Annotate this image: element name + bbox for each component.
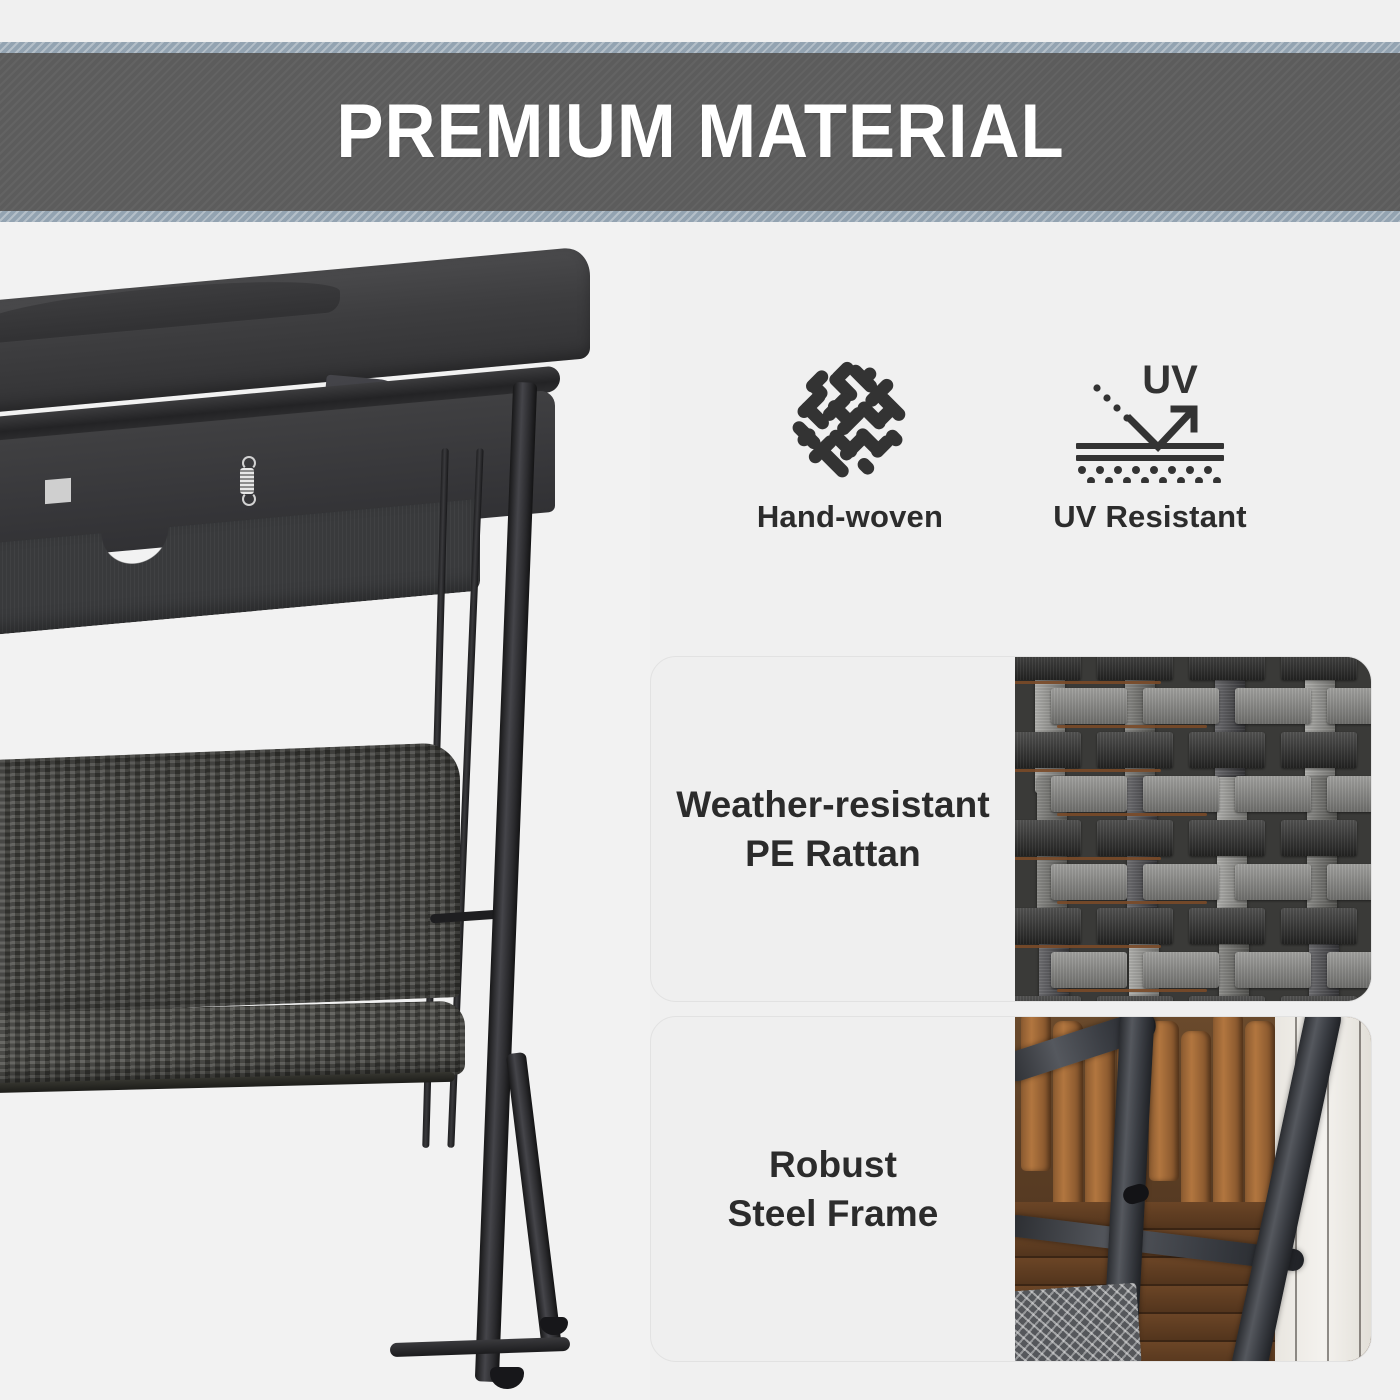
rattan-horizontal-strand [1235, 776, 1311, 812]
rattan-copper-accent [1015, 945, 1161, 948]
product-photo [0, 222, 650, 1400]
rattan-weave-row [1015, 905, 1371, 947]
rattan-horizontal-strand [1097, 732, 1173, 768]
rattan-copper-accent [1015, 769, 1161, 772]
spring-hook-bottom [242, 492, 256, 506]
rattan-horizontal-strand [1189, 820, 1265, 856]
feature-icon-hand-woven: Hand-woven [700, 355, 1000, 535]
canopy-care-label [45, 478, 71, 504]
feature-icon-label: UV Resistant [1053, 499, 1247, 535]
rattan-horizontal-strand [1051, 688, 1127, 724]
rattan-horizontal-strand [1015, 732, 1081, 768]
rattan-horizontal-strand [1015, 820, 1081, 856]
rattan-horizontal-strand [1327, 688, 1371, 724]
spring-hanger [238, 454, 256, 508]
uv-resistant-icon: UV [1066, 355, 1234, 485]
rattan-horizontal-strand [1281, 657, 1357, 680]
rattan-horizontal-strand [1015, 996, 1081, 1001]
wood-log [1181, 1031, 1211, 1217]
rattan-weave-row [1015, 993, 1371, 1001]
rattan-horizontal-strand [1015, 657, 1081, 680]
rattan-copper-accent [1057, 901, 1207, 904]
rattan-weave-closeup [1015, 657, 1371, 1001]
rattan-weave-row [1015, 949, 1371, 991]
leg-foot-back [540, 1317, 568, 1335]
rattan-weave-row [1015, 861, 1371, 903]
svg-text:UV: UV [1142, 358, 1198, 402]
rattan-weave-row [1015, 773, 1371, 815]
rattan-horizontal-strand [1097, 820, 1173, 856]
rattan-copper-accent [1015, 857, 1161, 860]
rattan-horizontal-strand [1281, 996, 1357, 1001]
banner-stripe-bottom [0, 211, 1400, 222]
rattan-horizontal-strand [1051, 864, 1127, 900]
rattan-horizontal-strand [1015, 908, 1081, 944]
rattan-horizontal-strand [1235, 864, 1311, 900]
leg-foot-front [490, 1367, 524, 1389]
card-title-line-2: PE Rattan [745, 833, 921, 874]
card-text-block: Weather-resistant PE Rattan [651, 657, 1015, 1001]
feature-icon-row: Hand-woven UV [700, 355, 1400, 535]
feature-icon-uv-resistant: UV [1000, 355, 1300, 535]
rattan-horizontal-strand [1051, 776, 1127, 812]
wood-log [1213, 1017, 1243, 1223]
steel-leg-back [506, 1052, 562, 1352]
rattan-horizontal-strand [1327, 864, 1371, 900]
rattan-horizontal-strand [1143, 864, 1219, 900]
spring-coil [240, 468, 254, 494]
card-title: Robust Steel Frame [728, 1140, 939, 1238]
woven-weave-icon [787, 355, 913, 485]
rattan-copper-accent [1057, 813, 1207, 816]
card-photo-steel-frame [1015, 1017, 1371, 1361]
rattan-horizontal-strand [1327, 776, 1371, 812]
rattan-weave-row [1015, 729, 1371, 771]
card-title-line-1: Robust [769, 1144, 897, 1185]
mesh-seat-corner [1015, 1283, 1142, 1361]
banner-stripe-top [0, 42, 1400, 53]
rattan-weave-row [1015, 657, 1371, 683]
rattan-horizontal-strand [1327, 952, 1371, 988]
rattan-horizontal-strand [1281, 820, 1357, 856]
rattan-horizontal-strand [1143, 776, 1219, 812]
rattan-horizontal-strand [1051, 952, 1127, 988]
card-title: Weather-resistant PE Rattan [676, 780, 990, 878]
rattan-weave-row [1015, 685, 1371, 727]
rattan-horizontal-strand [1281, 732, 1357, 768]
rattan-copper-accent [1057, 989, 1207, 992]
rattan-horizontal-strand [1097, 996, 1173, 1001]
header-banner: PREMIUM MATERIAL [0, 42, 1400, 222]
card-title-line-2: Steel Frame [728, 1193, 939, 1234]
rattan-horizontal-strand [1235, 688, 1311, 724]
rattan-horizontal-strand [1281, 908, 1357, 944]
card-title-line-1: Weather-resistant [676, 784, 990, 825]
rattan-copper-accent [1015, 681, 1161, 684]
wood-log [1149, 1021, 1179, 1181]
rattan-horizontal-strand [1097, 657, 1173, 680]
rattan-horizontal-strand [1189, 657, 1265, 680]
feature-card-steel-frame: Robust Steel Frame [650, 1016, 1372, 1362]
wall-line [1359, 1017, 1361, 1361]
rattan-weave-row [1015, 817, 1371, 859]
rattan-horizontal-strand [1189, 996, 1265, 1001]
bench-backrest-rattan [0, 742, 460, 1017]
rattan-horizontal-strand [1143, 688, 1219, 724]
card-text-block: Robust Steel Frame [651, 1017, 1015, 1361]
steel-frame-closeup [1015, 1017, 1371, 1361]
rattan-horizontal-strand [1189, 732, 1265, 768]
rattan-copper-accent [1057, 725, 1207, 728]
rattan-horizontal-strand [1143, 952, 1219, 988]
feature-icon-label: Hand-woven [757, 499, 943, 535]
rattan-horizontal-strand [1189, 908, 1265, 944]
card-photo-rattan-weave [1015, 657, 1371, 1001]
page-title: PREMIUM MATERIAL [336, 94, 1064, 170]
rattan-horizontal-strand [1235, 952, 1311, 988]
rattan-horizontal-strand [1097, 908, 1173, 944]
feature-card-rattan: Weather-resistant PE Rattan [650, 656, 1372, 1002]
